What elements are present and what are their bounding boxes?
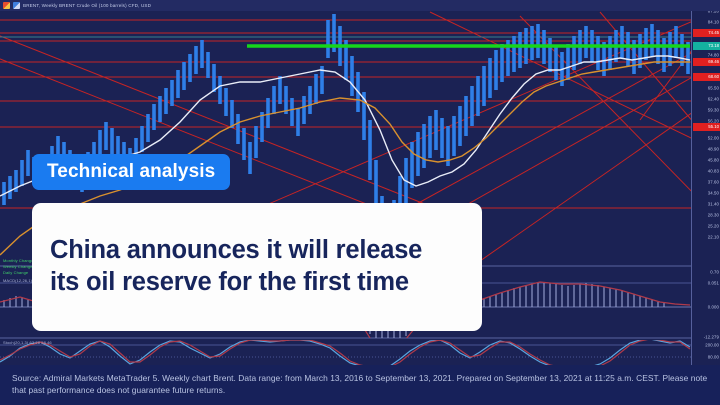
price-tag-line: 68.60 — [693, 73, 720, 81]
macd-tick: -12.279 — [704, 335, 719, 340]
chart-window-titlebar[interactable]: BRENT, Weekly BRENT Crude Oil (100 barre… — [0, 0, 720, 11]
price-tick: 22.10 — [708, 235, 719, 240]
price-tag-line: 55.10 — [693, 123, 720, 131]
macd-tick: 0.000 — [708, 305, 719, 310]
macd-tick: 0.051 — [708, 281, 719, 286]
source-footer: Source: Admiral Markets MetaTrader 5. We… — [0, 365, 720, 405]
chart-window-icon — [13, 2, 20, 9]
daily-change-label: Daily Change — [3, 270, 28, 275]
headline-text: China announces it will release its oil … — [50, 235, 422, 299]
price-tick: 65.50 — [708, 86, 719, 91]
headline-line-2: its oil reserve for the first time — [50, 268, 409, 296]
macd-tick: 0.70 — [710, 270, 719, 275]
price-tick: 74.80 — [708, 53, 719, 58]
source-text: Source: Admiral Markets MetaTrader 5. We… — [12, 372, 708, 396]
headline-card: China announces it will release its oil … — [32, 203, 482, 331]
price-tick: 62.40 — [708, 97, 719, 102]
price-tick: 28.30 — [708, 213, 719, 218]
price-tag-bid: 69.46 — [693, 58, 720, 66]
price-tick: 25.20 — [708, 224, 719, 229]
weekly-change-label: Weekly Change — [3, 264, 32, 269]
price-tag-level: 73.18 — [693, 42, 720, 50]
technical-analysis-badge: Technical analysis — [32, 154, 230, 190]
metatrader-icon — [3, 2, 10, 9]
price-tick: 31.40 — [708, 202, 719, 207]
price-tick: 45.80 — [708, 158, 719, 163]
monthly-change-label: Monthly Change — [3, 258, 34, 263]
price-tag-ask: 74.45 — [693, 29, 720, 37]
price-tick: 59.30 — [708, 108, 719, 113]
stochastic-label: Stoch(20,1,3) 63.28 58.46 — [3, 340, 52, 345]
price-scale[interactable]: 87.20 84.10 77.90 74.80 65.50 62.40 59.3… — [691, 0, 720, 368]
stoch-tick: 80.00 — [708, 355, 719, 360]
price-tick: 37.60 — [708, 180, 719, 185]
price-tick: 34.50 — [708, 191, 719, 196]
price-tick: 40.83 — [708, 169, 719, 174]
price-tick: 48.90 — [708, 147, 719, 152]
stoch-tick: 200.00 — [705, 343, 719, 348]
headline-line-1: China announces it will release — [50, 236, 422, 264]
screenshot-root: Monthly Change Weekly Change Daily Chang… — [0, 0, 720, 405]
price-tick: 52.00 — [708, 136, 719, 141]
chart-window-title: BRENT, Weekly BRENT Crude Oil (100 barre… — [23, 3, 151, 8]
price-tick: 84.10 — [708, 20, 719, 25]
